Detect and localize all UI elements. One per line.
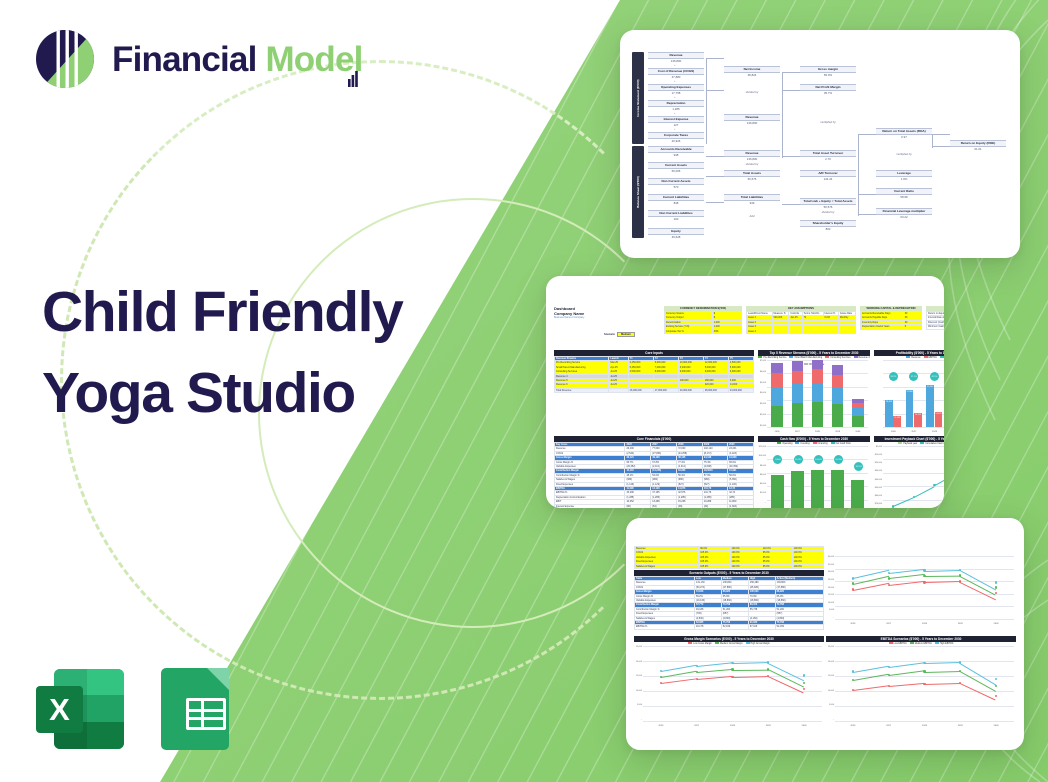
table-cell — [838, 329, 855, 333]
y-tick: 5,000 — [637, 704, 642, 706]
connector-line — [932, 134, 950, 135]
investment-payback-chart-plot — [883, 446, 944, 508]
table-cell: (48) — [677, 504, 703, 508]
y-tick: $6,000 — [760, 371, 766, 373]
dupont-node: Net Profit Margin35.7% — [800, 84, 856, 96]
dupont-node: Gross margin65.0% — [800, 66, 856, 78]
y-tick: 30,000 — [828, 571, 834, 573]
table-cell: Interest Expense — [555, 504, 625, 508]
y-tick: 10,000 — [828, 602, 834, 604]
dupont-node: Net Income48,824 — [724, 66, 780, 78]
y-tick: - — [833, 617, 834, 619]
data-table: Key Lines20262027202820292030Revenue26,4… — [554, 442, 754, 508]
ebitda-bar: 14,128 — [914, 413, 922, 427]
table-cell — [772, 329, 789, 333]
data-table: Revenue90.0%100.0%110.0%100.0%COGS105.0%… — [634, 546, 824, 569]
x-tick: 2028 — [922, 623, 927, 625]
connector-line — [706, 58, 707, 144]
balance-sheet-spine: Balance Sheet ($'000) — [632, 146, 644, 238]
bar-label: 14,128 — [914, 414, 922, 416]
dupont-node-title: Operating Expenses — [648, 84, 704, 91]
line-segment — [924, 671, 960, 673]
ebitda-scenarios-chart[interactable]: EBITDA Scenarios ($'000) - 5 Years to De… — [826, 636, 1016, 728]
x-tick: 2027 — [911, 431, 916, 433]
table-row: Discount (Cash Flow)Jan-25 — [927, 320, 945, 324]
dupont-node: Current Liabilities848 — [648, 194, 704, 206]
connector-line — [858, 214, 876, 215]
x-tick: 2026 — [775, 431, 780, 433]
y-tick: 5,000 — [829, 609, 834, 611]
stacked-bar-segment — [812, 369, 823, 382]
legend-swatch — [935, 642, 939, 644]
dupont-node-title: Return on Equity (ROE) — [950, 140, 1006, 147]
dupont-node: Current Ratio58.98 — [876, 188, 932, 200]
operator-divided-by-2: divided by — [729, 162, 775, 166]
line-segment — [732, 662, 768, 664]
x-tick: 2030 — [994, 725, 999, 727]
x-tick: 2030 — [802, 725, 807, 727]
key-assumptions-panel: KEY ASSUMPTIONSLeast/Direct NameMeasure:… — [746, 306, 856, 334]
y-tick: 15,000 — [828, 594, 834, 596]
dupont-node-value: 48,824 — [724, 73, 780, 78]
stacked-bar-segment — [771, 406, 782, 427]
x-tick: 2028 — [815, 431, 820, 433]
bar-label: 14,876 — [935, 413, 943, 415]
line-segment — [853, 674, 889, 681]
financial-dashboard-screenshot[interactable]: Dashboard Company Name Business Name of … — [546, 276, 944, 508]
dupont-node: Cost of Revenue (COGS)47,880 — [648, 68, 704, 80]
dupont-node-value: 0.97 — [876, 135, 932, 140]
y-tick: $5,000 — [760, 382, 766, 384]
cash-flow-bar — [771, 475, 784, 508]
logo-text-financial: Financial — [112, 40, 257, 79]
table-cell: 20,000,000 — [678, 388, 703, 392]
line-segment — [889, 581, 925, 586]
data-point — [888, 572, 890, 574]
cash-flow-bar — [851, 480, 864, 508]
table-cell: 17,000,000 — [653, 388, 678, 392]
operator-plus: + — [674, 64, 676, 67]
data-point — [995, 685, 997, 687]
dupont-node-value: 2.70 — [800, 157, 856, 162]
y-tick: $7,000 — [760, 360, 766, 362]
stacked-bar-segment — [792, 371, 803, 384]
line-segment — [853, 685, 889, 690]
dupont-node-value: 63.22 — [876, 215, 932, 220]
bar-label: 42,000 — [926, 386, 934, 388]
y-tick: $6,000 — [760, 474, 766, 476]
investment-payback-chart[interactable]: Investment Payback Chart ($'000) - 5 Yea… — [874, 436, 944, 508]
dupont-node-title: Equity — [648, 228, 704, 235]
top-revenue-streams-chart[interactable]: Top 5 Revenue Streams ($'000) - 5 Years … — [758, 350, 870, 434]
data-point — [803, 674, 805, 676]
page-title: Child Friendly Yoga Studio — [42, 272, 470, 434]
ebitda-scenarios-chart-x-axis: 20262027202820292030 — [835, 725, 1014, 727]
data-point — [696, 665, 698, 667]
cash-flow-bar — [831, 470, 844, 508]
table-row: Corporate Tax %30% — [665, 329, 742, 333]
table-cell: (80) — [625, 504, 651, 508]
y-tick: 10,000 — [636, 690, 642, 692]
y-tick: $2,000 — [760, 492, 766, 494]
ebitda-bar: 14,876 — [935, 412, 943, 427]
connector-line — [858, 134, 859, 216]
stacked-bar-segment — [852, 403, 863, 408]
cash-flow-chart[interactable]: Cash flow ($'000) - 5 Years to December … — [758, 436, 870, 508]
ebitda-pct-bubble: 33.2% — [889, 372, 898, 381]
stacked-bar-segment — [812, 360, 823, 369]
y-tick: $20,000 — [875, 462, 882, 464]
ebitda-pct-bubble: 42.5% — [930, 372, 939, 381]
data-point — [923, 683, 925, 685]
data-table: TableLowMediumHighActive (Medium)Revenue… — [634, 576, 824, 630]
dupont-node: Corporate Taxes20,926 — [648, 132, 704, 144]
table-row: Internal Rate of Return (IRR) %Growth — [927, 316, 945, 320]
line-segment — [960, 582, 996, 600]
x-tick: 2028 — [922, 725, 927, 727]
y-tick: - — [833, 719, 834, 721]
data-point — [852, 670, 854, 672]
data-table: Currency Source$Currency Output$Denomina… — [664, 311, 742, 334]
table-row: Interest Expense(80)(64)(48)(32)(1,303) — [555, 504, 754, 508]
line-segment — [661, 671, 697, 678]
dupont-node-title: Interest Expense — [648, 116, 704, 123]
data-table: Least/Direct NameMeasure: $ControlsTerms… — [746, 311, 856, 334]
legend-swatch — [831, 442, 835, 444]
table-cell: 67,109 — [748, 625, 775, 629]
data-point — [852, 689, 854, 691]
dupont-node-value: 136,800 — [648, 59, 704, 64]
y-tick: 10,000 — [828, 690, 834, 692]
x-tick: 2026 — [850, 725, 855, 727]
legend-swatch — [688, 642, 692, 644]
x-tick: 2029 — [835, 431, 840, 433]
y-tick: 25,000 — [828, 579, 834, 581]
dupont-node-title: Revenue — [648, 52, 704, 59]
line-segment — [732, 669, 768, 670]
data-point — [731, 676, 733, 678]
y-tick: $10,000 — [875, 454, 882, 456]
dupont-node-title: Revenue — [724, 150, 780, 157]
legend-swatch — [777, 442, 781, 444]
legend-swatch — [924, 356, 928, 358]
data-point — [803, 688, 805, 690]
pie-bar-chart-logo-icon — [34, 28, 96, 90]
operator-plus: + — [674, 80, 676, 83]
y-tick: 20,000 — [636, 661, 642, 663]
dupont-node-value: 570 — [648, 185, 704, 190]
scenario-label: Scenario — [604, 333, 615, 336]
table-row: Total Revenue16,000,00017,000,00020,000,… — [555, 388, 754, 392]
table-cell: 52,199 — [775, 625, 823, 629]
dupont-node-value: 61.01 — [950, 147, 1006, 152]
dupont-node-title: Current Assets — [648, 162, 704, 169]
cash-flow-bubble: 10,912 — [854, 462, 863, 471]
line-segment — [697, 676, 733, 680]
connector-line — [782, 204, 800, 205]
dupont-node-value: 47,880 — [648, 75, 704, 80]
line-segment — [924, 581, 960, 583]
stacked-bar-segment — [832, 375, 843, 387]
scenario-selector[interactable]: Medium — [617, 332, 635, 337]
dupont-node-title: Gross margin — [800, 66, 856, 73]
connector-line — [706, 176, 724, 177]
key-metrics-panel: KEY METRICSReturn on Equity (ROE)61.68%I… — [926, 306, 944, 330]
bar-label: 11,098 — [893, 417, 901, 419]
data-point — [696, 671, 698, 673]
dupont-node: Total Liabilities949 — [724, 194, 780, 206]
dupont-node-value: 58.98 — [876, 195, 932, 200]
y-tick: $50,000 — [875, 487, 882, 489]
table-cell: 95.0% — [761, 564, 792, 568]
dupont-node-title: Non Current Liabilities — [648, 210, 704, 217]
gross-margin-scenarios-chart-plot — [643, 646, 822, 721]
dupont-node-title: Net Income — [724, 66, 780, 73]
cash-flow-chart-plot: 8,46410,73910,52010,29610,912 — [767, 446, 868, 508]
working-capital-panel: WORKING CAPITAL & DEPRECIATIONAccounts R… — [860, 306, 922, 330]
profitability-chart-x-axis: 20262027202820292030 — [883, 431, 944, 433]
data-point — [731, 668, 733, 670]
table-cell: (64) — [651, 504, 677, 508]
logo-text-model: Model — [265, 42, 362, 77]
operator-multiplied-by-2: multiplied by — [881, 152, 927, 156]
legend-swatch — [920, 442, 924, 444]
y-tick: 25,000 — [828, 646, 834, 648]
dupont-node: Leverage1.9% — [876, 170, 932, 182]
dupont-node: Equity49,628 — [648, 228, 704, 240]
table-row: Return on Equity (ROE)61.68% — [927, 312, 945, 316]
dupont-node-value: 848 — [648, 201, 704, 206]
dupont-node-value: 949 — [724, 201, 780, 206]
data-table: Return on Equity (ROE)61.68%Internal Rat… — [926, 311, 944, 330]
stacked-bar-segment — [792, 361, 803, 370]
table-cell: Depreciation Useful Years — [861, 325, 904, 329]
scenario-inputs-table: Revenue90.0%100.0%110.0%100.0%COGS105.0%… — [634, 546, 824, 569]
dupont-analysis-screenshot[interactable]: Income Statement ($'000)Balance Sheet ($… — [620, 30, 1020, 258]
dupont-node: Interest Expense127 — [648, 116, 704, 128]
y-tick: 15,000 — [828, 675, 834, 677]
connector-line — [706, 90, 724, 91]
revenue-bar: 37,000 — [906, 390, 914, 427]
stacked-bar-segment — [832, 404, 843, 427]
cash-flow-chart-y-axis: $12,000$10,000$8,000$6,000$4,000$2,000-(… — [758, 446, 766, 508]
dupont-node-title: Depreciation — [648, 100, 704, 107]
dupont-node-title: Current Ratio — [876, 188, 932, 195]
x-tick: 2026 — [658, 725, 663, 727]
table-cell: EBITDA % — [635, 625, 695, 629]
data-point — [660, 670, 662, 672]
connector-line — [932, 134, 933, 148]
x-tick: 2028 — [730, 725, 735, 727]
excel-icon: X — [36, 664, 126, 754]
bar-label: 26,400 — [885, 401, 893, 403]
x-tick: 2027 — [886, 725, 891, 727]
working-capital-panel-header: WORKING CAPITAL & DEPRECIATION — [860, 306, 922, 311]
cash-flow-bubble: 10,520 — [814, 455, 823, 464]
data-point — [913, 496, 915, 498]
dupont-node-value: 1,285 — [648, 107, 704, 112]
data-point — [852, 582, 854, 584]
operator-plus: + — [674, 112, 676, 115]
y-tick: $12,000 — [759, 446, 766, 448]
y-tick: 5,000 — [829, 704, 834, 706]
operator-divided-by-3: divided by — [805, 210, 851, 214]
table-cell: Minimum Cash ($'000) — [927, 325, 945, 329]
google-sheets-icon — [150, 664, 240, 754]
data-point — [660, 676, 662, 678]
line-segment — [960, 683, 996, 700]
legend-swatch — [746, 642, 750, 644]
dupont-node-title: Financial Leverage multiplier — [876, 208, 932, 215]
gross-margin-scenarios-chart[interactable]: Gross Margin Scenarios ($'000) - 5 Years… — [634, 636, 824, 728]
legend-swatch — [889, 642, 893, 644]
core-inputs-table: Core InputsRevenue StreamsLaunchY1Y2Y3Y4… — [554, 350, 754, 393]
legend-swatch — [898, 442, 902, 444]
ebitda-scenarios-chart-y-axis: 25,00020,00015,00010,0005,000- — [826, 646, 834, 721]
x-tick: 2030 — [855, 431, 860, 433]
ebitda-bar: 11,098 — [893, 416, 901, 427]
dupont-node-value: 49,628 — [648, 235, 704, 240]
line-segment — [853, 582, 889, 590]
dupont-node: Current Assets50,006 — [648, 162, 704, 174]
dupont-node-value: 50,006 — [648, 169, 704, 174]
dupont-node-value: 35.7% — [800, 91, 856, 96]
table-cell: 105.0% — [699, 564, 730, 568]
table-cell: 28,000,000 — [703, 388, 728, 392]
dupont-node-value: 948 — [648, 153, 704, 158]
stacked-bar-segment — [771, 387, 782, 406]
table-cell — [823, 329, 838, 333]
connector-line — [858, 134, 876, 135]
table-cell: 30% — [712, 329, 741, 333]
connector-line — [706, 58, 724, 59]
dupont-node: Return on Equity (ROE)61.01 — [950, 140, 1006, 152]
connector-line — [782, 156, 800, 157]
stacked-bar-segment — [812, 383, 823, 402]
data-point — [731, 662, 733, 664]
legend-swatch — [825, 356, 829, 358]
y-tick: 15,000 — [636, 675, 642, 677]
table-row: Depreciation Useful Years5 — [861, 325, 922, 329]
operator-divided-by: divided by — [729, 90, 775, 94]
table-cell: Total Revenue — [555, 388, 609, 392]
dupont-node: Depreciation1,285 — [648, 100, 704, 112]
x-tick: 2027 — [694, 725, 699, 727]
dupont-node: Shareholder's Equity800 — [800, 220, 856, 232]
data-point — [995, 581, 997, 583]
line-segment — [889, 683, 925, 687]
dupont-node: Accounts Receivable948 — [648, 146, 704, 158]
data-point — [923, 569, 925, 571]
line-segment — [924, 570, 960, 572]
x-tick: 2027 — [886, 623, 891, 625]
dupont-node: Revenue136,800 — [724, 150, 780, 162]
table-cell — [789, 329, 802, 333]
scenario-trend-chart-x-axis: 20262027202820292030 — [835, 623, 1014, 625]
table-cell: Asset 4 — [747, 329, 773, 333]
cash-flow-bar — [791, 471, 804, 508]
dupont-node-title: Total Assets — [724, 170, 780, 177]
data-point — [888, 666, 890, 668]
x-tick: 2026 — [850, 623, 855, 625]
data-point — [852, 679, 854, 681]
line-segment — [661, 665, 697, 672]
y-tick: $40,000 — [875, 479, 882, 481]
y-tick: $4,000 — [760, 392, 766, 394]
table-cell: 100.0% — [792, 564, 823, 568]
x-tick: 2027 — [795, 431, 800, 433]
profitability-chart[interactable]: Profitability ($'000) - 5 Years to Decem… — [874, 350, 944, 434]
data-table: Accounts Receivable Days30Accounts Payab… — [860, 311, 922, 330]
table-cell: Corporate Tax % — [665, 329, 713, 333]
table-row: Minimum Cash ($'000)1,0542 — [927, 325, 945, 329]
line-segment — [924, 575, 960, 576]
legend-swatch — [758, 356, 762, 358]
dupont-node: A/R Turnover144.24 — [800, 170, 856, 182]
data-point — [888, 685, 890, 687]
line-segment — [697, 669, 733, 673]
gross-margin-scenarios-chart-x-axis: 20262027202820292030 — [643, 725, 822, 727]
dupont-node: Total Assets50,576 — [724, 170, 780, 182]
legend-swatch — [813, 442, 817, 444]
bar-label: 37,000 — [906, 391, 914, 393]
scenario-outputs-table: Scenario Outputs ($'000) - 5 Years to De… — [634, 570, 824, 630]
legend-swatch — [910, 642, 914, 644]
table-row: Asset 4 — [747, 329, 856, 333]
line-segment — [889, 574, 925, 579]
connector-line — [782, 72, 783, 158]
y-tick: $3,000 — [760, 403, 766, 405]
line-segment — [934, 473, 944, 485]
legend-swatch — [715, 642, 719, 644]
table-cell: 16,000,000 — [628, 388, 653, 392]
legend-swatch — [795, 442, 799, 444]
data-point — [995, 586, 997, 588]
logo-bar-glyph-icon — [348, 58, 360, 74]
scenario-trend-chart[interactable]: 2026202720282029203040,00035,00030,00025… — [826, 546, 1016, 626]
scenario-analysis-screenshot[interactable]: Revenue90.0%100.0%110.0%100.0%COGS105.0%… — [626, 518, 1024, 750]
stacked-bar-segment — [832, 387, 843, 404]
y-tick: $8,000 — [760, 465, 766, 467]
line-segment — [924, 683, 960, 685]
data-point — [852, 577, 854, 579]
y-tick: $1,000 — [760, 425, 766, 427]
revenue-bar: 42,000 — [926, 385, 934, 427]
y-tick: 20,000 — [828, 661, 834, 663]
dupont-node: Non Current Liabilities100 — [648, 210, 704, 222]
line-segment — [732, 676, 768, 678]
table-row: EBITDA %40,17852,19967,10952,199 — [635, 625, 824, 629]
cash-flow-bar — [811, 470, 824, 508]
y-tick: $10,000 — [759, 455, 766, 457]
connector-line — [706, 156, 724, 157]
dupont-node: Non Current Assets570 — [648, 178, 704, 190]
legend-swatch — [854, 356, 858, 358]
operator-plus: + — [674, 128, 676, 131]
data-point — [995, 695, 997, 697]
dupont-node-title: Accounts Receivable — [648, 146, 704, 153]
dashboard-subtitle: Business Name of Company — [554, 316, 616, 319]
data-table: Revenue StreamsLaunchY1Y2Y3Y4Y5Pre-Recor… — [554, 356, 754, 393]
table-cell — [609, 388, 628, 392]
currency-denomination-panel: CURRENCY DENOMINATION $('000)Currency So… — [664, 306, 742, 334]
connector-line — [932, 146, 950, 147]
profitability-chart-plot: 26,40011,09833.2%37,00014,12837.1%42,000… — [883, 360, 944, 427]
table-cell: 100.0% — [730, 564, 761, 568]
ebitda-pct-bubble: 37.1% — [909, 372, 918, 381]
cash-flow-bubble: 10,739 — [794, 455, 803, 464]
dupont-node: Revenue136,800 — [724, 114, 780, 126]
